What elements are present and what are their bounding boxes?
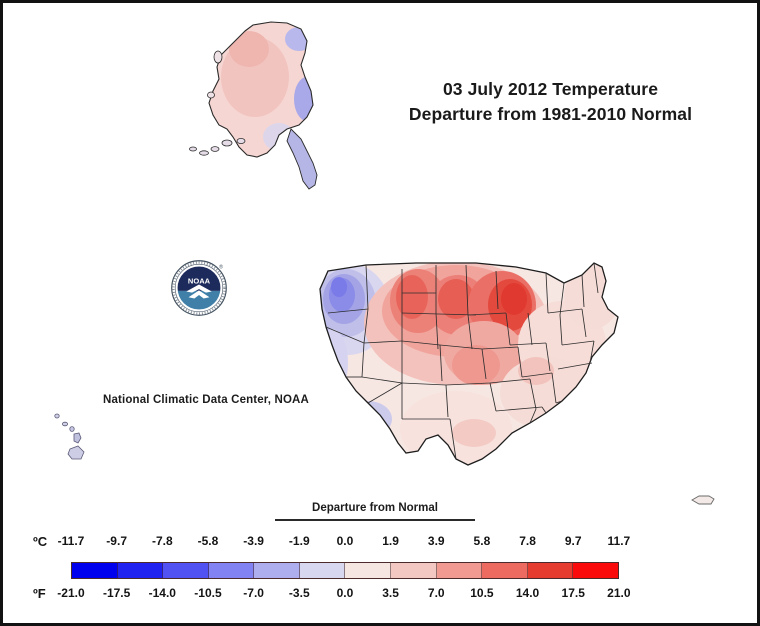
- fahrenheit-unit-label: ºF: [33, 586, 46, 601]
- fahrenheit-tick-11: 17.5: [550, 586, 596, 602]
- celsius-tick-2: -7.8: [139, 534, 185, 550]
- field-warm-texas-pocket: [452, 419, 496, 447]
- fahrenheit-tick-6: 0.0: [322, 586, 368, 602]
- color-swatch-0: [72, 563, 118, 578]
- alaska-cool-east: [294, 77, 320, 121]
- fahrenheit-tick-7: 3.5: [368, 586, 414, 602]
- alaska-cool-northeast: [285, 27, 313, 51]
- logo-wordmark: NOAA: [188, 276, 211, 285]
- celsius-tick-11: 9.7: [550, 534, 596, 550]
- legend-heading-rule: [275, 519, 475, 521]
- color-swatch-9: [482, 563, 528, 578]
- field-cool-pnw-peak: [331, 277, 347, 297]
- celsius-tick-12: 11.7: [596, 534, 642, 550]
- field-warm-central-core: [452, 345, 500, 385]
- color-scale-bar: [71, 562, 619, 579]
- celsius-tick-8: 3.9: [413, 534, 459, 550]
- noaa-logo: NOAA ®: [170, 259, 228, 317]
- celsius-tick-4: -3.9: [231, 534, 277, 550]
- celsius-tick-6: 0.0: [322, 534, 368, 550]
- celsius-tick-1: -9.7: [94, 534, 140, 550]
- page-title: 03 July 2012 Temperature Departure from …: [378, 77, 723, 127]
- fahrenheit-tick-1: -17.5: [94, 586, 140, 602]
- fahrenheit-tick-2: -14.0: [139, 586, 185, 602]
- celsius-tick-9: 5.8: [459, 534, 505, 550]
- color-swatch-8: [437, 563, 483, 578]
- field-cool-california-core: [318, 357, 338, 401]
- fahrenheit-tick-row: -21.0-17.5-14.0-10.5-7.0-3.50.03.57.010.…: [71, 586, 619, 602]
- field-mild-northeast: [564, 265, 620, 329]
- celsius-tick-3: -5.8: [185, 534, 231, 550]
- conus-temperature-field: [306, 253, 631, 485]
- puerto-rico-shape: [692, 496, 714, 504]
- fahrenheit-tick-8: 7.0: [413, 586, 459, 602]
- color-swatch-5: [300, 563, 346, 578]
- celsius-tick-7: 1.9: [368, 534, 414, 550]
- aleutian-islands: [190, 138, 246, 155]
- field-warm-greatlakes-peak: [501, 283, 527, 315]
- celsius-tick-10: 7.8: [505, 534, 551, 550]
- alaska-panhandle: [287, 129, 317, 189]
- temperature-departure-figure: 03 July 2012 Temperature Departure from …: [0, 0, 760, 626]
- celsius-tick-row: -11.7-9.7-7.8-5.8-3.9-1.90.01.93.95.87.8…: [71, 534, 619, 550]
- puerto-rico-inset-map: [689, 491, 717, 509]
- title-line-2: Departure from 1981-2010 Normal: [378, 102, 723, 127]
- conus-map: [306, 253, 631, 485]
- registered-mark-icon: ®: [219, 263, 223, 270]
- color-swatch-10: [528, 563, 574, 578]
- color-swatch-1: [118, 563, 164, 578]
- field-warm-montana-core: [396, 275, 428, 319]
- celsius-tick-5: -1.9: [276, 534, 322, 550]
- hawaii-inset-map: [48, 407, 110, 469]
- color-swatch-11: [573, 563, 618, 578]
- legend-heading: Departure from Normal: [280, 502, 470, 514]
- hawaii-islands: [55, 414, 84, 459]
- fahrenheit-tick-3: -10.5: [185, 586, 231, 602]
- celsius-tick-0: -11.7: [48, 534, 94, 550]
- fahrenheit-tick-9: 10.5: [459, 586, 505, 602]
- color-swatch-3: [209, 563, 255, 578]
- fahrenheit-tick-0: -21.0: [48, 586, 94, 602]
- fahrenheit-tick-5: -3.5: [276, 586, 322, 602]
- celsius-unit-label: ºC: [33, 534, 47, 549]
- field-cool-southwest-core: [350, 413, 378, 433]
- fahrenheit-tick-4: -7.0: [231, 586, 277, 602]
- attribution-text: National Climatic Data Center, NOAA: [86, 394, 326, 406]
- alaska-inset-map: [183, 17, 343, 203]
- alaska-warm-north: [229, 31, 269, 67]
- color-swatch-6: [345, 563, 391, 578]
- color-swatch-2: [163, 563, 209, 578]
- color-swatch-7: [391, 563, 437, 578]
- title-line-1: 03 July 2012 Temperature: [378, 77, 723, 102]
- field-cool-california: [316, 329, 348, 397]
- fahrenheit-tick-12: 21.0: [596, 586, 642, 602]
- fahrenheit-tick-10: 14.0: [505, 586, 551, 602]
- field-cool-southwest: [344, 401, 392, 437]
- logo-disc: [178, 267, 221, 310]
- color-swatch-4: [254, 563, 300, 578]
